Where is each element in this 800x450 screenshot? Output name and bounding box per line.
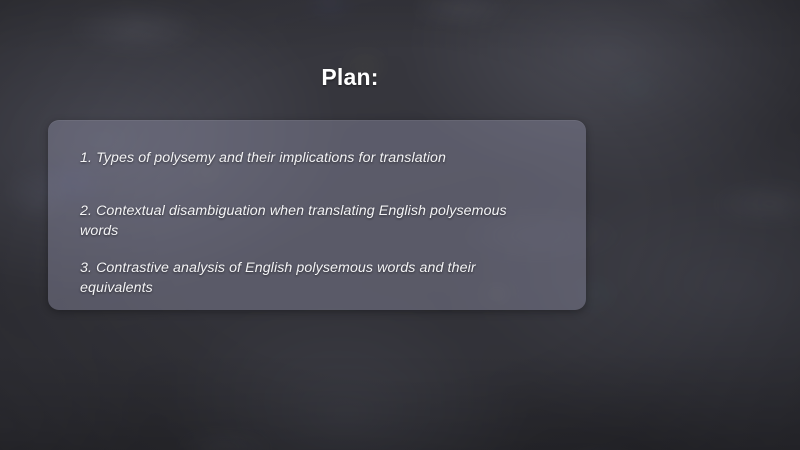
plan-content-panel: 1. Types of polysemy and their implicati… [48,120,586,310]
plan-item-3: 3. Contrastive analysis of English polys… [80,258,550,299]
plan-item-1: 1. Types of polysemy and their implicati… [80,148,556,169]
presentation-slide: Plan: 1. Types of polysemy and their imp… [0,0,800,450]
slide-title: Plan: [0,64,700,91]
plan-item-2: 2. Contextual disambiguation when transl… [80,201,510,242]
